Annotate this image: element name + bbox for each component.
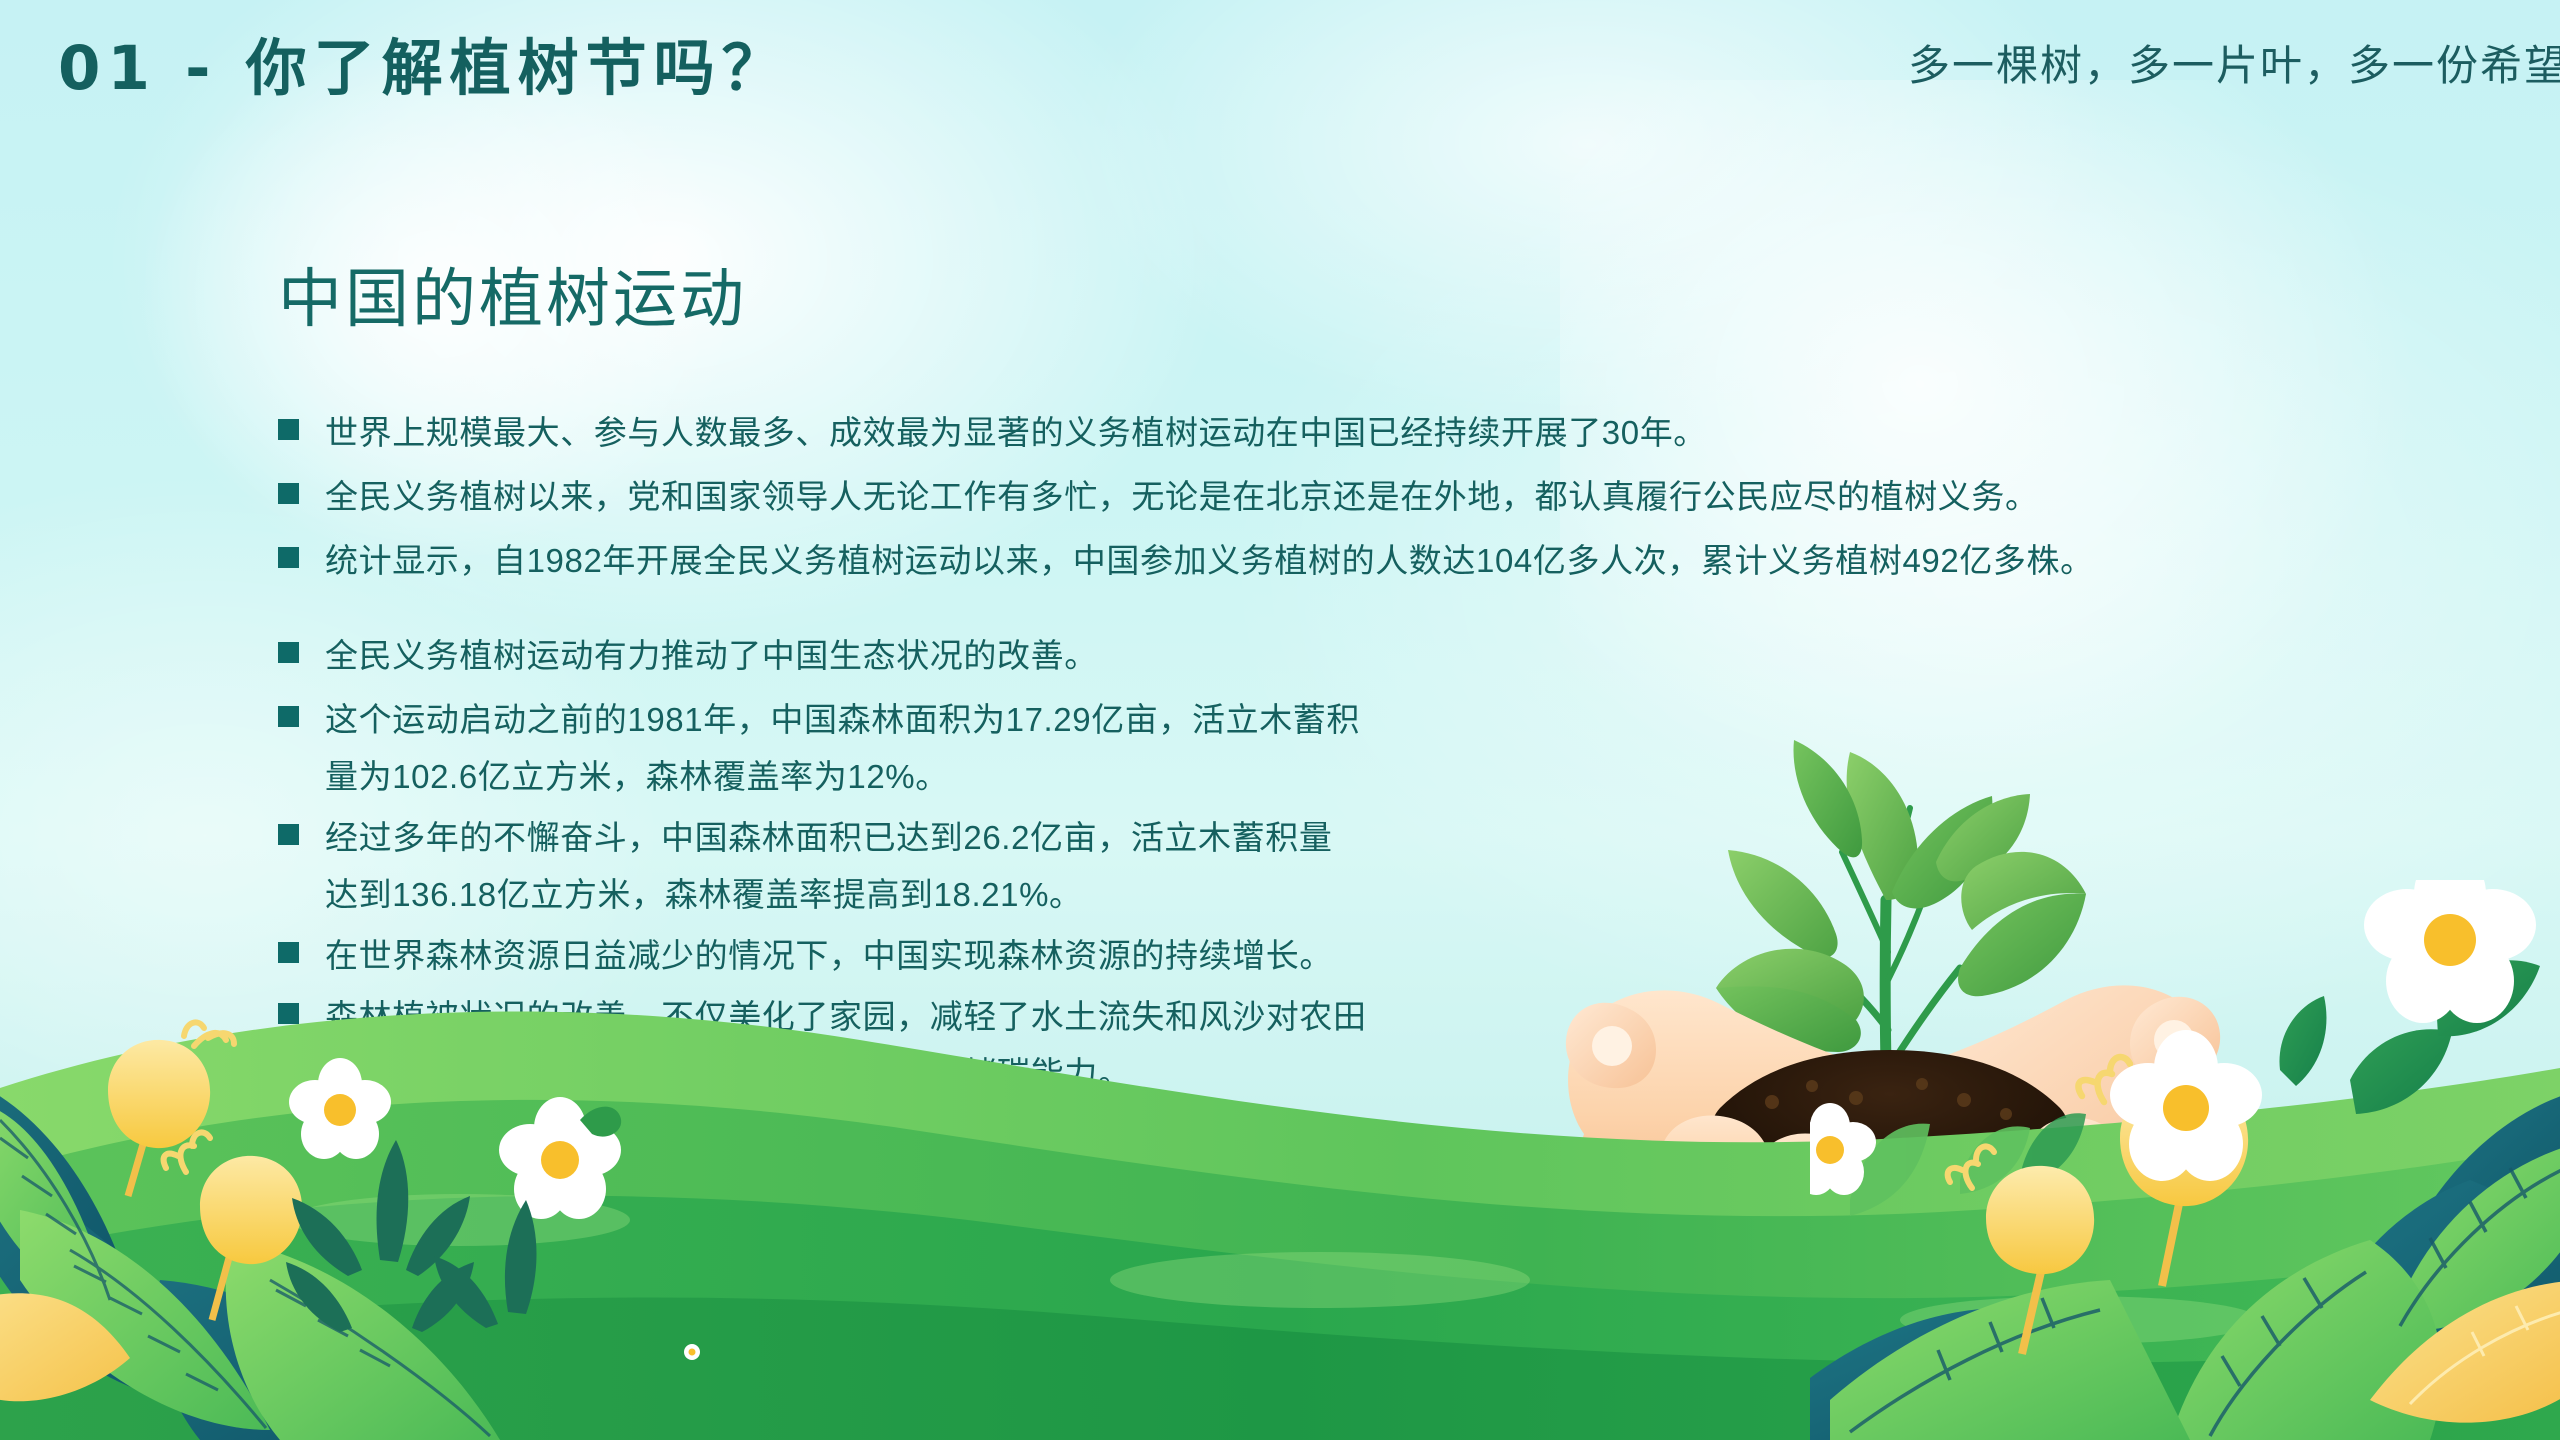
page-title: 01 - 你了解植树节吗？	[58, 18, 790, 107]
right-foliage-decoration	[1810, 880, 2560, 1440]
left-foliage-icon	[0, 960, 880, 1440]
left-foliage-decoration	[0, 960, 880, 1440]
slide-root: 01 - 你了解植树节吗？ 多一棵树，多一片叶，多一份希望 中国的植树运动 世界…	[0, 0, 2560, 1440]
list-item-text: 全民义务植树以来，党和国家领导人无论工作有多忙，无论是在北京还是在外地，都认真履…	[325, 468, 2039, 525]
bullet-square-icon	[278, 642, 299, 663]
bullet-square-icon	[278, 483, 299, 504]
list-item-text: 全民义务植树运动有力推动了中国生态状况的改善。	[325, 627, 1098, 684]
list-item-text: 这个运动启动之前的1981年，中国森林面积为17.29亿亩，活立木蓄积 量为10…	[325, 691, 1360, 805]
slide-header: 01 - 你了解植树节吗？ 多一棵树，多一片叶，多一份希望	[0, 0, 2560, 150]
list-item: 全民义务植树以来，党和国家领导人无论工作有多忙，无论是在北京还是在外地，都认真履…	[278, 468, 2238, 525]
bullet-square-icon	[278, 824, 299, 845]
header-tagline: 多一棵树，多一片叶，多一份希望	[1908, 32, 2560, 93]
list-item-text: 世界上规模最大、参与人数最多、成效最为显著的义务植树运动在中国已经持续开展了30…	[325, 404, 1707, 461]
bullet-square-icon	[278, 419, 299, 440]
list-item: 统计显示，自1982年开展全民义务植树运动以来，中国参加义务植树的人数达104亿…	[278, 532, 2238, 589]
list-item: 世界上规模最大、参与人数最多、成效最为显著的义务植树运动在中国已经持续开展了30…	[278, 404, 2238, 461]
bullet-square-icon	[278, 706, 299, 727]
list-item-text: 经过多年的不懈奋斗，中国森林面积已达到26.2亿亩，活立木蓄积量 达到136.1…	[325, 809, 1332, 923]
right-foliage-icon	[1810, 880, 2560, 1440]
list-item-text: 统计显示，自1982年开展全民义务植树运动以来，中国参加义务植树的人数达104亿…	[325, 532, 2094, 589]
section-heading: 中国的植树运动	[278, 248, 747, 340]
bullet-square-icon	[278, 547, 299, 568]
